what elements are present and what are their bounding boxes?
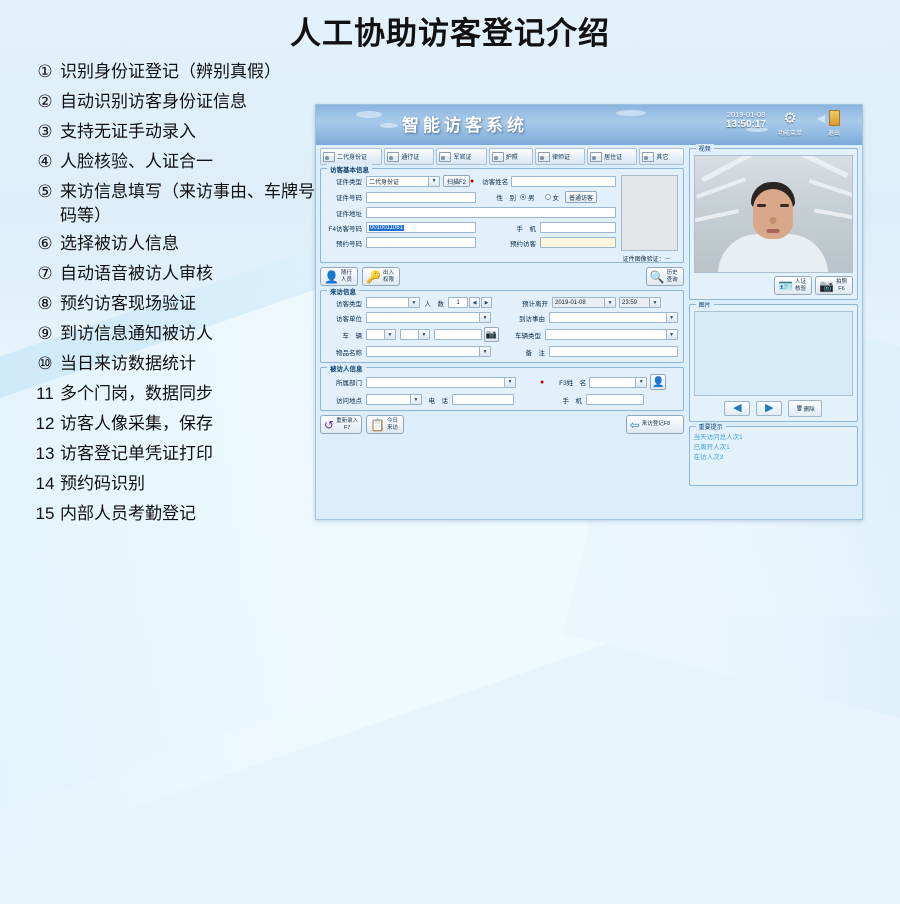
tab-label: 居住证 (604, 152, 622, 161)
sex-male-radio[interactable]: 男 (520, 192, 535, 202)
id-card-icon (642, 152, 654, 162)
tab-officer-card[interactable]: 军官证 (436, 148, 486, 165)
chevron-down-icon: ▼ (666, 313, 677, 322)
chevron-down-icon: ▼ (479, 347, 490, 356)
list-item: ⑦ 自动语音被访人审核 (30, 262, 330, 286)
tab-label: 二代身份证 (337, 152, 367, 161)
access-permission-label: 出入 权限 (383, 270, 394, 283)
expected-leave-date[interactable]: 2019-01-08 ▼ (552, 297, 616, 308)
visited-name-select[interactable]: ▼ (589, 377, 647, 388)
list-item: ⑤ 来访信息填写（来访事由、车牌号码等） (30, 180, 330, 228)
list-item-label: 到访信息通知被访人 (60, 322, 213, 346)
chevron-down-icon: ▼ (479, 313, 490, 322)
vehicle-province-select[interactable]: ▼ (366, 329, 396, 340)
appointment-number-row: 预约号码 预约访客 (326, 237, 616, 248)
function-menu-label: 功能菜单 (778, 131, 802, 137)
camera-icon[interactable]: 📷 (484, 327, 499, 342)
department-label: 所属部门 (326, 377, 366, 387)
visited-name-label: F3姓 名 (545, 377, 589, 387)
delete-image-button[interactable]: 🗑 删除 (788, 400, 822, 417)
vehicle-label: 车 辆 (326, 330, 366, 340)
id-card-icon (492, 152, 504, 162)
list-item-label: 识别身份证登记（辨别真假） (60, 60, 281, 84)
picture-button-row: ◀ ▶ 🗑 删除 (694, 400, 853, 417)
visit-info-section: 来访信息 访客类型 ▼ 人 数 1 ◀ ▶ 预计离开 (320, 290, 684, 363)
list-item: ④ 人脸核验、人证合一 (30, 150, 330, 174)
today-visits-label: 今日 来访 (387, 418, 398, 431)
list-item-label: 多个门岗，数据同步 (60, 382, 213, 406)
tab-label: 律师证 (552, 152, 570, 161)
list-item-number: 13 (30, 442, 60, 466)
exit-button[interactable]: 退出 (816, 109, 852, 137)
required-mark: ● (540, 379, 544, 386)
chevron-down-icon: ▼ (428, 177, 439, 186)
list-item: ⑥ 选择被访人信息 (30, 232, 330, 256)
reset-entry-button[interactable]: ↺ 重新录入 F7 (320, 415, 362, 434)
list-item-number: ② (30, 90, 60, 114)
visitor-name-input[interactable] (511, 176, 615, 187)
function-menu-button[interactable]: ⚙ 功能菜单 (772, 109, 808, 137)
capture-photo-label: 拍照 F6 (836, 279, 847, 292)
tab-passport[interactable]: 护照 (489, 148, 533, 165)
statistics-panel: 重要提示 当天访问总人次1 已离开人次1 在访人次3 (689, 426, 858, 486)
visitor-unit-label: 访客单位 (326, 313, 366, 323)
clock-display: 2019-01-08 13:50:17 (726, 110, 766, 132)
sex-male-label: 男 (528, 192, 535, 202)
visitor-number-value: 0010011061 (369, 225, 404, 231)
video-feed (694, 155, 853, 273)
chevron-down-icon: ▼ (410, 395, 421, 404)
doc-address-label: 证件地址 (326, 208, 366, 218)
visitor-number-label: F4访客号码 (326, 223, 366, 233)
id-photo-preview (621, 175, 678, 251)
goods-row: 物品名称 ▼ 备 注 (326, 346, 678, 357)
remark-input[interactable] (549, 346, 678, 357)
document-type-tabs: 二代身份证 通行证 军官证 护照 (320, 148, 684, 165)
door-enter-icon: ⇦ (630, 419, 640, 431)
visited-mobile-input[interactable] (586, 394, 644, 405)
search-icon: 🔍 (650, 271, 665, 283)
telephone-input[interactable] (452, 394, 514, 405)
visit-place-row: 访问地点 ▼ 电 话 手 机 (326, 394, 678, 405)
video-panel: 视频 (689, 148, 858, 300)
person-count-stepper[interactable]: ◀ ▶ (468, 297, 492, 308)
list-item-number: ⑩ (30, 352, 60, 376)
visitor-type-row: 访客类型 ▼ 人 数 1 ◀ ▶ 预计离开 2019-0 (326, 297, 678, 308)
id-card-icon (538, 152, 550, 162)
picture-legend: 图片 (696, 300, 714, 309)
person-icon: 👤 (324, 271, 339, 283)
register-visit-label: 来访登记F8 (642, 421, 670, 427)
mobile-input[interactable] (540, 222, 616, 233)
list-item-number: ④ (30, 150, 60, 174)
goods-label: 物品名称 (326, 347, 366, 357)
select-person-icon[interactable]: 👤 (650, 374, 666, 390)
sex-label: 性 别 (486, 192, 520, 202)
visitor-number-row: F4访客号码 0010011061 手 机 (326, 222, 616, 233)
list-item: 12 访客人像采集，保存 (30, 412, 330, 436)
access-permission-button[interactable]: 🔑 出入 权限 (362, 267, 400, 286)
list-item: ⑩ 当日来访数据统计 (30, 352, 330, 376)
visit-place-label: 访问地点 (326, 395, 366, 405)
vehicle-type-select[interactable]: ▼ (545, 329, 678, 340)
page-title: 人工协助访客登记介绍 (0, 8, 900, 53)
tab-label: 护照 (506, 152, 518, 161)
list-item-number: 11 (30, 382, 60, 406)
list-item: ③ 支持无证手动录入 (30, 120, 330, 144)
list-item-number: 15 (30, 502, 60, 526)
today-visits-button[interactable]: 📋 今日 来访 (366, 415, 404, 434)
reset-entry-label: 重新录入 F7 (336, 418, 358, 431)
chevron-down-icon: ▼ (649, 298, 660, 307)
list-item-number: ⑥ (30, 232, 60, 256)
visit-reason-label: 到访事由 (505, 313, 549, 323)
department-select[interactable]: ▼ (366, 377, 516, 388)
doc-type-label: 证件类型 (326, 176, 366, 186)
expected-leave-time[interactable]: 23:59 ▼ (619, 297, 661, 308)
list-item-label: 访客登记单凭证打印 (60, 442, 213, 466)
person-count-label: 人 数 (420, 298, 448, 308)
expected-leave-label: 预计离开 (508, 298, 552, 308)
list-item-number: ⑨ (30, 322, 60, 346)
list-item: 13 访客登记单凭证打印 (30, 442, 330, 466)
list-item-label: 自动语音被访人审核 (60, 262, 213, 286)
list-item: 14 预约码识别 (30, 472, 330, 496)
appointment-visitor-input[interactable] (540, 237, 616, 248)
picture-preview (694, 311, 853, 396)
face-verify-label: 人证 核验 (795, 279, 806, 292)
chevron-down-icon: ▼ (384, 330, 395, 339)
ceiling-light-decor (800, 155, 849, 178)
app-right-column: 视频 (687, 145, 862, 520)
doc-type-row: 证件类型 二代身份证 ▼ 扫描F2 ● 访客姓名 (326, 175, 616, 187)
list-item-number: ⑤ (30, 180, 60, 204)
visited-mobile-label: 手 机 (546, 395, 586, 405)
clock-time: 13:50:17 (726, 119, 766, 132)
section-legend: 来访信息 (327, 286, 359, 296)
list-item-label: 预约访客现场验证 (60, 292, 196, 316)
doc-number-row: 证件号码 性 别 男 女 (326, 191, 616, 203)
register-visit-button[interactable]: ⇦ 来访登记F8 (626, 415, 684, 434)
doc-address-row: 证件地址 (326, 207, 616, 218)
visitor-system-window: 智能访客系统 2019-01-08 13:50:17 ⚙ 功能菜单 退出 (315, 104, 863, 520)
visitor-face-image (713, 182, 833, 273)
department-row: 所属部门 ▼ ● F3姓 名 ▼ 👤 (326, 374, 678, 390)
companions-label: 随行 人员 (341, 270, 352, 283)
telephone-label: 电 话 (422, 395, 452, 405)
list-item: ⑨ 到访信息通知被访人 (30, 322, 330, 346)
list-item: ① 识别身份证登记（辨别真假） (30, 60, 330, 84)
app-brand-title: 智能访客系统 (402, 111, 528, 136)
mobile-label: 手 机 (500, 223, 540, 233)
vehicle-type-label: 车辆类型 (501, 330, 545, 340)
appointment-number-label: 预约号码 (326, 238, 366, 248)
vehicle-row: 车 辆 ▼ ▼ 📷 车辆类型 (326, 327, 678, 342)
section-legend: 访客基本信息 (327, 164, 372, 174)
list-item: ⑧ 预约访客现场验证 (30, 292, 330, 316)
basic-action-row: 👤 随行 人员 🔑 出入 权限 🔍 历史 查询 (320, 267, 684, 286)
list-item: 15 内部人员考勤登记 (30, 502, 330, 526)
list-item-number: ① (30, 60, 60, 84)
required-mark: ● (470, 178, 474, 185)
tab-lawyer-card[interactable]: 律师证 (535, 148, 585, 165)
video-legend: 视频 (696, 144, 714, 153)
list-item-label: 来访信息填写（来访事由、车牌号码等） (60, 180, 330, 228)
camera-icon: 📷 (819, 280, 834, 292)
radio-dot-icon (545, 194, 551, 200)
visitor-unit-select[interactable]: ▼ (366, 312, 491, 323)
id-card-icon (387, 152, 399, 162)
picture-panel: 图片 ◀ ▶ 🗑 删除 (689, 304, 858, 422)
count-increment-icon[interactable]: ▶ (481, 297, 492, 308)
id-card-icon (590, 152, 602, 162)
expected-leave-time-value: 23:59 (622, 300, 637, 306)
visitor-type-select[interactable]: ▼ (366, 297, 420, 308)
doc-type-select[interactable]: 二代身份证 ▼ (366, 176, 440, 187)
key-icon: 🔑 (366, 271, 381, 283)
chevron-down-icon: ▼ (635, 378, 646, 387)
app-left-column: 二代身份证 通行证 军官证 护照 (316, 145, 687, 520)
id-card-icon (439, 152, 451, 162)
tab-label: 其它 (656, 152, 668, 161)
visited-person-section: 被访人信息 所属部门 ▼ ● F3姓 名 ▼ 👤 (320, 367, 684, 411)
list-item-label: 自动识别访客身份证信息 (60, 90, 247, 114)
cloud-decor-icon (616, 110, 646, 116)
trash-icon: 🗑 (796, 406, 803, 412)
list-item-number: ③ (30, 120, 60, 144)
appointment-number-input[interactable] (366, 237, 476, 248)
visitor-type-label: 访客类型 (326, 298, 366, 308)
goods-select[interactable]: ▼ (366, 346, 491, 357)
list-item-label: 选择被访人信息 (60, 232, 179, 256)
visitor-number-input[interactable]: 0010011061 (366, 222, 476, 233)
vehicle-plate-input[interactable] (434, 329, 482, 340)
stat-onsite-visits: 在访人次3 (694, 453, 853, 463)
list-item-label: 内部人员考勤登记 (60, 502, 196, 526)
tab-other[interactable]: 其它 (639, 148, 683, 165)
count-decrement-icon[interactable]: ◀ (469, 297, 480, 308)
face-features (753, 204, 793, 224)
previous-image-button[interactable]: ◀ (724, 401, 750, 416)
companions-button[interactable]: 👤 随行 人员 (320, 267, 358, 286)
chevron-down-icon: ▼ (666, 330, 677, 339)
vehicle-letter-select[interactable]: ▼ (400, 329, 430, 340)
ceiling-light-decor (701, 155, 755, 182)
cloud-decor-icon (380, 123, 398, 128)
visitor-name-label: 访客姓名 (475, 176, 511, 186)
sex-female-radio[interactable]: 女 (545, 192, 560, 202)
next-image-button[interactable]: ▶ (756, 401, 782, 416)
chevron-down-icon: ▼ (604, 298, 615, 307)
section-legend: 被访人信息 (327, 363, 366, 373)
chevron-down-icon: ▼ (504, 378, 515, 387)
face-verify-icon: 🪪 (778, 280, 793, 292)
remark-label: 备 注 (505, 347, 549, 357)
list-item-label: 当日来访数据统计 (60, 352, 196, 376)
history-query-label: 历史 查询 (667, 270, 678, 283)
id-photo-verify-label: 证件图像验证：－ (616, 254, 678, 263)
app-body: 二代身份证 通行证 军官证 护照 (316, 145, 862, 520)
reset-icon: ↺ (324, 419, 334, 431)
person-count-input[interactable]: 1 (448, 297, 468, 308)
visitor-unit-row: 访客单位 ▼ 到访事由 ▼ (326, 312, 678, 323)
chevron-down-icon: ▼ (418, 330, 429, 339)
tab-pass[interactable]: 通行证 (384, 148, 434, 165)
exit-door-icon (816, 109, 852, 128)
sex-female-label: 女 (553, 192, 560, 202)
scan-button[interactable]: 扫描F2 (443, 175, 470, 187)
list-item: ② 自动识别访客身份证信息 (30, 90, 330, 114)
list-item-label: 访客人像采集，保存 (60, 412, 213, 436)
video-button-row: 🪪 人证 核验 📷 拍照 F6 (694, 276, 853, 295)
visitor-basic-info-section: 访客基本信息 证件类型 二代身份证 ▼ 扫描F2 ● (320, 168, 684, 263)
exit-label: 退出 (828, 131, 840, 137)
tab-label: 军官证 (453, 152, 471, 161)
statistics-legend: 重要提示 (696, 422, 726, 431)
slide-content: 人工协助访客登记介绍 ① 识别身份证登记（辨别真假） ② 自动识别访客身份证信息… (0, 0, 900, 617)
bottom-action-row: ↺ 重新录入 F7 📋 今日 来访 ⇦ 来访登记F8 (320, 415, 684, 434)
feature-list: ① 识别身份证登记（辨别真假） ② 自动识别访客身份证信息 ③ 支持无证手动录入… (30, 60, 330, 532)
list-item-number: 12 (30, 412, 60, 436)
stat-total-visits: 当天访问总人次1 (694, 433, 853, 443)
list-item-number: 14 (30, 472, 60, 496)
tab-label: 通行证 (401, 152, 419, 161)
list-item-label: 人脸核验、人证合一 (60, 150, 213, 174)
list-item-number: ⑦ (30, 262, 60, 286)
doc-type-value: 二代身份证 (369, 177, 399, 186)
visitor-level-button[interactable]: 普通访客 (565, 191, 597, 203)
shirt-decor (718, 234, 828, 273)
gear-icon: ⚙ (772, 109, 808, 128)
tab-id-card[interactable]: 二代身份证 (320, 148, 382, 165)
expected-leave-date-value: 2019-01-08 (555, 300, 586, 306)
chevron-down-icon: ▼ (408, 298, 419, 307)
doc-address-input[interactable] (366, 207, 616, 218)
stat-departed-visits: 已离开人次1 (694, 443, 853, 453)
list-item-label: 支持无证手动录入 (60, 120, 196, 144)
clock-date: 2019-01-08 (726, 110, 766, 119)
visit-place-select[interactable]: ▼ (366, 394, 422, 405)
history-query-button[interactable]: 🔍 历史 查询 (646, 267, 684, 286)
doc-number-label: 证件号码 (326, 192, 366, 202)
list-item-label: 预约码识别 (60, 472, 145, 496)
doc-number-input[interactable] (366, 192, 476, 203)
list-item: 11 多个门岗，数据同步 (30, 382, 330, 406)
list-icon: 📋 (370, 419, 385, 431)
appointment-visitor-label: 预约访客 (500, 238, 540, 248)
delete-image-label: 删除 (804, 405, 815, 413)
list-item-number: ⑧ (30, 292, 60, 316)
id-photo-column: 证件图像验证：－ (616, 175, 678, 263)
app-titlebar: 智能访客系统 2019-01-08 13:50:17 ⚙ 功能菜单 退出 (316, 105, 862, 145)
face-verify-button[interactable]: 🪪 人证 核验 (774, 276, 812, 295)
capture-photo-button[interactable]: 📷 拍照 F6 (815, 276, 853, 295)
cloud-decor-icon (356, 111, 382, 118)
id-card-icon (323, 152, 335, 162)
tab-residence-card[interactable]: 居住证 (587, 148, 637, 165)
radio-dot-icon (520, 194, 526, 200)
visit-reason-select[interactable]: ▼ (549, 312, 678, 323)
